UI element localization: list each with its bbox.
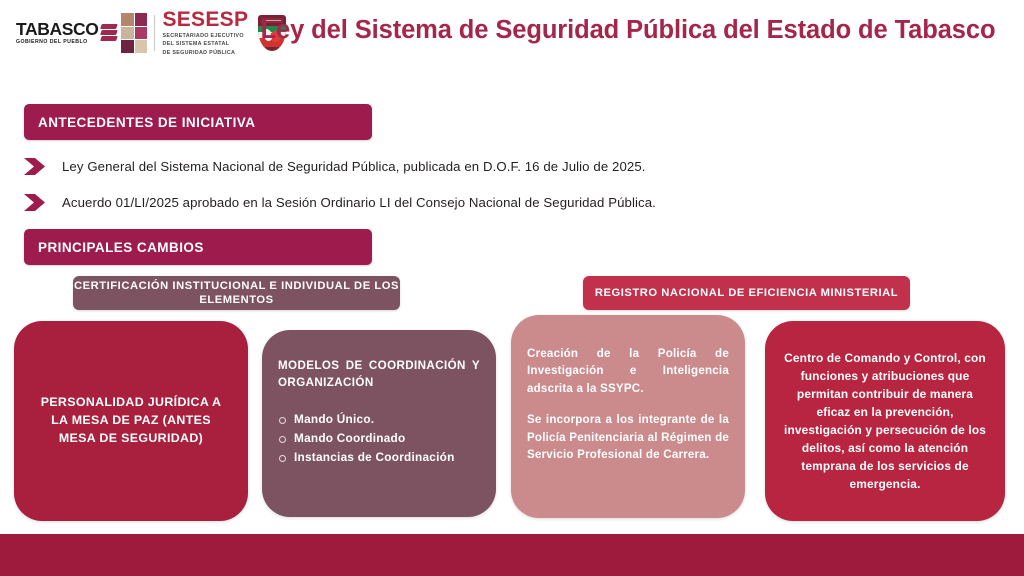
- card-centro-de-comando-y-control: Centro de Comando y Control, con funcion…: [765, 321, 1005, 521]
- modelos-list: Mando Único. Mando Coordinado Instancias…: [278, 410, 480, 467]
- subbanner-certificacion-institucional: CERTIFICACIÓN INSTITUCIONAL E INDIVIDUAL…: [73, 276, 400, 310]
- bullet-text: Acuerdo 01/LI/2025 aprobado en la Sesión…: [62, 195, 656, 210]
- antecedentes-bullet-list: Ley General del Sistema Nacional de Segu…: [24, 148, 964, 220]
- list-item: Instancias de Coordinación: [278, 448, 480, 467]
- subbanner-registro-nacional-eficiencia: REGISTRO NACIONAL DE EFICIENCIA MINISTER…: [583, 276, 910, 310]
- sesesp-logo: SESESP SECRETARIADO EJECUTIVO DEL SISTEM…: [162, 9, 248, 56]
- banner-principales-cambios: PRINCIPALES CAMBIOS: [24, 229, 372, 265]
- banner-antecedentes-de-iniciativa: ANTECEDENTES DE INICIATIVA: [24, 104, 372, 140]
- tabasco-logo-subtitle: GOBIERNO DEL PUEBLO: [16, 40, 88, 45]
- logo-strip: TABASCO GOBIERNO DEL PUEBLO SESESP SECRE…: [16, 8, 286, 58]
- sesesp-subtitle-line-3: DE SEGURIDAD PÚBLICA: [162, 49, 248, 57]
- tabasco-logo-title: TABASCO: [16, 21, 98, 39]
- tabasco-stripes-icon: [101, 20, 117, 46]
- list-item: Acuerdo 01/LI/2025 aprobado en la Sesión…: [24, 184, 964, 220]
- chevron-right-icon: [24, 194, 46, 211]
- tabasco-wordmark: TABASCO GOBIERNO DEL PUEBLO: [16, 21, 98, 46]
- footer-bar: [0, 534, 1024, 576]
- card-creacion-policia-investigacion: Creación de la Policía de Investigación …: [511, 315, 745, 518]
- tabasco-mosaic-icon: [121, 13, 147, 53]
- list-item: Ley General del Sistema Nacional de Segu…: [24, 148, 964, 184]
- sesesp-subtitle-line-2: DEL SISTEMA ESTATAL: [162, 40, 248, 48]
- sesesp-logo-title: SESESP: [162, 9, 248, 30]
- card-paragraph-1: Creación de la Policía de Investigación …: [527, 345, 729, 397]
- card-heading: MODELOS DE COORDINACIÓN Y ORGANIZACIÓN: [278, 358, 480, 392]
- card-paragraph-2: Se incorpora a los integrante de la Poli…: [527, 411, 729, 463]
- card-title: PERSONALIDAD JURÍDICA A LA MESA DE PAZ (…: [32, 394, 230, 448]
- sesesp-logo-subtitle: SECRETARIADO EJECUTIVO DEL SISTEMA ESTAT…: [162, 32, 248, 56]
- card-modelos-de-coordinacion: MODELOS DE COORDINACIÓN Y ORGANIZACIÓN M…: [262, 330, 496, 517]
- tabasco-government-logo: TABASCO GOBIERNO DEL PUEBLO: [16, 13, 147, 53]
- card-personalidad-juridica: PERSONALIDAD JURÍDICA A LA MESA DE PAZ (…: [14, 321, 248, 521]
- list-item: Mando Único.: [278, 410, 480, 429]
- bullet-text: Ley General del Sistema Nacional de Segu…: [62, 159, 646, 174]
- slide-header: TABASCO GOBIERNO DEL PUEBLO SESESP SECRE…: [0, 0, 1024, 96]
- logo-divider: [154, 15, 155, 51]
- page-title: Ley del Sistema de Seguridad Pública del…: [248, 14, 1008, 47]
- list-item: Mando Coordinado: [278, 429, 480, 448]
- sesesp-subtitle-line-1: SECRETARIADO EJECUTIVO: [162, 32, 248, 40]
- chevron-right-icon: [24, 158, 46, 175]
- card-body-text: Centro de Comando y Control, con funcion…: [779, 349, 991, 494]
